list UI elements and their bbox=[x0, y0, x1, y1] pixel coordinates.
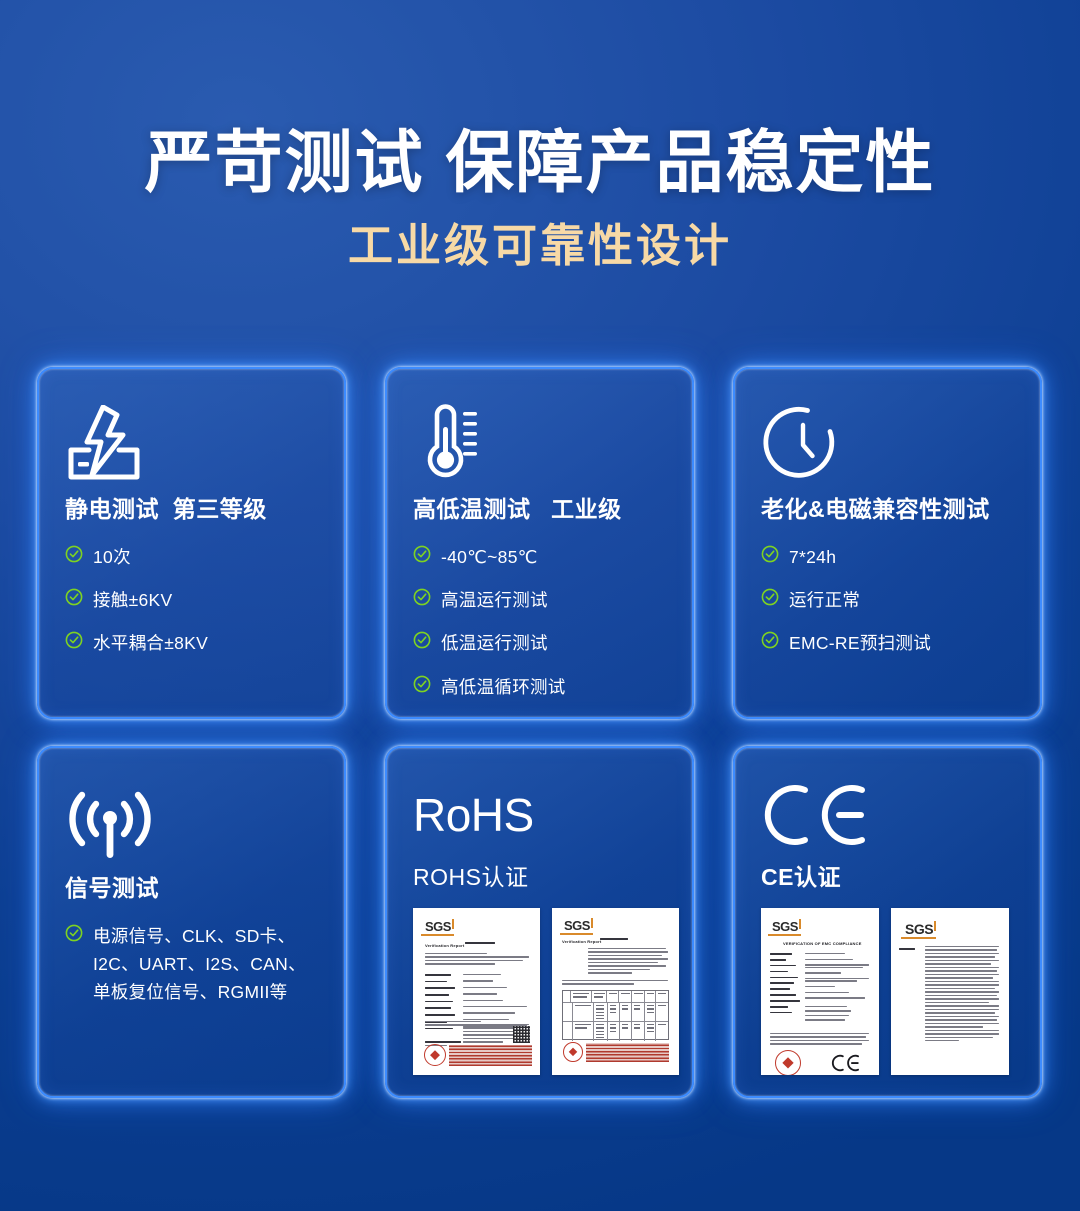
page-header: 严苛测试 保障产品稳定性 工业级可靠性设计 bbox=[0, 0, 1080, 271]
list-item-label: 7*24h bbox=[789, 543, 836, 571]
list-item-label: 低温运行测试 bbox=[441, 629, 548, 657]
ce-mark-icon bbox=[831, 1054, 861, 1072]
card-title: 老化&电磁兼容性测试 bbox=[761, 495, 1014, 524]
page-subtitle: 工业级可靠性设计 bbox=[0, 221, 1080, 271]
check-circle-icon bbox=[65, 588, 83, 606]
list-item-label: 运行正常 bbox=[789, 586, 860, 614]
card-temperature-test[interactable]: 高低温测试 工业级 -40℃~85℃ 高温运行测试 bbox=[385, 367, 694, 719]
card-title: 高低温测试 工业级 bbox=[413, 495, 666, 524]
certificate-thumbnail-ce-1[interactable]: SGS VERIFICATION OF EMC COMPLIANCE bbox=[761, 908, 879, 1075]
signal-antenna-icon bbox=[65, 780, 318, 862]
doc-field-labels bbox=[770, 953, 800, 1016]
doc-title: Verification Report bbox=[562, 939, 601, 944]
check-circle-icon bbox=[65, 545, 83, 563]
card-rohs-cert[interactable]: RoHS ROHS认证 SGS Verification Report bbox=[385, 746, 694, 1098]
check-circle-icon bbox=[761, 545, 779, 563]
card-title: 信号测试 bbox=[65, 874, 318, 903]
doc-side-label bbox=[899, 948, 917, 952]
ce-mark-icon bbox=[761, 784, 873, 846]
list-item-label: 水平耦合±8KV bbox=[93, 629, 208, 657]
doc-title: Verification Report bbox=[425, 943, 464, 948]
list-item: 运行正常 bbox=[761, 586, 1014, 614]
card-ce-cert[interactable]: CE认证 SGS VERIFICATION OF EMC COMPLIANCE bbox=[733, 746, 1042, 1098]
sgs-logo: SGS bbox=[772, 920, 798, 933]
list-item: 接触±6KV bbox=[65, 586, 318, 614]
doc-footer-band bbox=[449, 1045, 532, 1066]
list-item: 7*24h bbox=[761, 543, 1014, 571]
list-item: 高温运行测试 bbox=[413, 586, 666, 614]
list-item-label: -40℃~85℃ bbox=[441, 543, 538, 571]
card-esd-test[interactable]: 静电测试 第三等级 10次 接触±6KV bbox=[37, 367, 346, 719]
rohs-logo-text: RoHS bbox=[413, 792, 534, 838]
cert-caption: CE认证 bbox=[761, 858, 1014, 892]
doc-title: VERIFICATION OF EMC COMPLIANCE bbox=[783, 941, 862, 946]
list-item-label: 接触±6KV bbox=[93, 586, 172, 614]
page-title: 严苛测试 保障产品稳定性 bbox=[0, 128, 1080, 199]
check-circle-icon bbox=[413, 588, 431, 606]
clock-icon bbox=[761, 401, 1014, 483]
sgs-logo: SGS bbox=[564, 919, 590, 932]
certificate-thumbnail-rohs-2[interactable]: SGS Verification Report bbox=[552, 908, 679, 1075]
list-item-label: 高温运行测试 bbox=[441, 586, 548, 614]
doc-intro-lines bbox=[425, 953, 529, 967]
certificate-thumbnails: SGS Verification Report bbox=[413, 908, 666, 1075]
ce-logo bbox=[761, 778, 1014, 852]
esd-lightning-icon bbox=[65, 401, 318, 483]
list-item-label: 电源信号、CLK、SD卡、 I2C、UART、I2S、CAN、 单板复位信号、R… bbox=[93, 922, 306, 1007]
doc-note-lines bbox=[562, 980, 668, 987]
doc-data-table bbox=[562, 990, 669, 1040]
sgs-logo: SGS bbox=[905, 922, 933, 936]
list-item: 高低温循环测试 bbox=[413, 673, 666, 701]
red-seal bbox=[563, 1042, 583, 1062]
list-item: EMC-RE预扫测试 bbox=[761, 629, 1014, 657]
certificate-thumbnail-ce-2[interactable]: SGS bbox=[891, 908, 1009, 1075]
bullet-list: 7*24h 运行正常 EMC-RE预扫测试 bbox=[761, 543, 1014, 658]
check-circle-icon bbox=[413, 675, 431, 693]
list-item: -40℃~85℃ bbox=[413, 543, 666, 571]
card-signal-test[interactable]: 信号测试 电源信号、CLK、SD卡、 I2C、UART、I2S、CAN、 单板复… bbox=[37, 746, 346, 1098]
doc-header-lines bbox=[465, 942, 527, 946]
rohs-logo: RoHS bbox=[413, 778, 666, 852]
doc-footer-band bbox=[586, 1043, 669, 1062]
certificate-thumbnails: SGS VERIFICATION OF EMC COMPLIANCE bbox=[761, 908, 1014, 1075]
bullet-list: -40℃~85℃ 高温运行测试 低温运行测试 bbox=[413, 543, 666, 701]
check-circle-icon bbox=[65, 631, 83, 649]
doc-standards-list bbox=[805, 1006, 869, 1024]
red-seal bbox=[775, 1050, 801, 1075]
feature-card-grid: 静电测试 第三等级 10次 接触±6KV bbox=[37, 367, 1043, 1098]
list-item: 水平耦合±8KV bbox=[65, 629, 318, 657]
check-circle-icon bbox=[761, 588, 779, 606]
sgs-logo: SGS bbox=[425, 920, 451, 933]
check-circle-icon bbox=[65, 924, 83, 942]
doc-signature-block bbox=[425, 1021, 485, 1028]
cert-caption: ROHS认证 bbox=[413, 858, 666, 892]
check-circle-icon bbox=[761, 631, 779, 649]
check-circle-icon bbox=[413, 545, 431, 563]
doc-intro-lines bbox=[588, 948, 668, 976]
card-title: 静电测试 第三等级 bbox=[65, 495, 318, 524]
certificate-thumbnail-rohs-1[interactable]: SGS Verification Report bbox=[413, 908, 540, 1075]
list-item: 10次 bbox=[65, 543, 318, 571]
card-aging-emc-test[interactable]: 老化&电磁兼容性测试 7*24h 运行正常 bbox=[733, 367, 1042, 719]
red-seal bbox=[424, 1044, 446, 1066]
doc-disclaimer bbox=[770, 1033, 869, 1047]
list-item: 低温运行测试 bbox=[413, 629, 666, 657]
list-item-label: EMC-RE预扫测试 bbox=[789, 629, 931, 657]
bullet-list: 10次 接触±6KV 水平耦合±8KV bbox=[65, 543, 318, 658]
check-circle-icon bbox=[413, 631, 431, 649]
promo-page: 严苛测试 保障产品稳定性 工业级可靠性设计 静电测试 第三等级 10次 bbox=[0, 0, 1080, 1211]
list-item: 电源信号、CLK、SD卡、 I2C、UART、I2S、CAN、 单板复位信号、R… bbox=[65, 922, 318, 1007]
doc-header-lines bbox=[600, 938, 668, 942]
qr-code bbox=[513, 1026, 530, 1043]
list-item-label: 10次 bbox=[93, 543, 131, 571]
thermometer-icon bbox=[413, 401, 666, 483]
doc-field-values bbox=[805, 953, 869, 1003]
list-item-label: 高低温循环测试 bbox=[441, 673, 566, 701]
bullet-list: 电源信号、CLK、SD卡、 I2C、UART、I2S、CAN、 单板复位信号、R… bbox=[65, 922, 318, 1007]
doc-text-block bbox=[925, 946, 999, 1044]
